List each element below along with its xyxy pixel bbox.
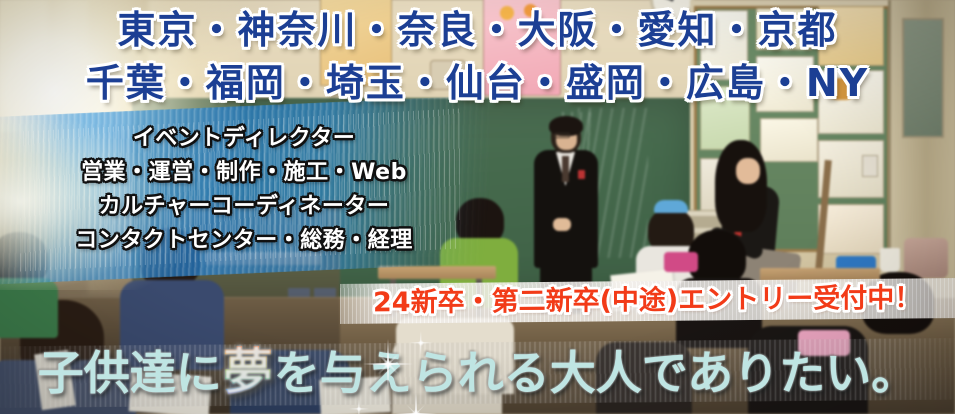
locations-headline: 東京・神奈川・奈良・大阪・愛知・京都 千葉・福岡・埼玉・仙台・盛岡・広島・NY xyxy=(0,4,955,110)
tagline-before: 子供達に xyxy=(38,343,222,403)
job-role-line-4: コンタクトセンター・総務・経理 xyxy=(34,224,454,258)
pencil-case xyxy=(664,252,698,272)
teacher-glasses xyxy=(554,133,570,138)
bulletin-poster xyxy=(760,118,818,162)
cup xyxy=(880,248,900,272)
bulletin-poster xyxy=(818,204,884,254)
student-desk xyxy=(378,266,496,279)
tagline-after: を与えられる大人でありたい。 xyxy=(274,343,918,403)
job-role-line-1: イベントディレクター xyxy=(34,122,454,156)
teacher-badge xyxy=(578,170,585,179)
teacher-hands xyxy=(553,218,571,231)
brand-tagline: 子供達に夢を与えられる大人でありたい。 xyxy=(0,334,955,410)
recruitment-hero-banner[interactable]: 東京・神奈川・奈良・大阪・愛知・京都 千葉・福岡・埼玉・仙台・盛岡・広島・NY … xyxy=(0,0,955,414)
bag xyxy=(904,238,948,278)
job-role-line-2: 営業・運営・制作・施工・Web xyxy=(34,156,454,190)
locations-line-1: 東京・神奈川・奈良・大阪・愛知・京都 xyxy=(0,4,955,57)
locations-line-2: 千葉・福岡・埼玉・仙台・盛岡・広島・NY xyxy=(0,57,955,110)
teacher-tie xyxy=(562,156,569,182)
tagline-text: 子供達に夢を与えられる大人でありたい。 xyxy=(38,342,918,403)
tagline-dream-kanji: 夢 xyxy=(223,342,273,402)
entry-call-to-action[interactable]: 24新卒・第二新卒(中途)エントリー受付中！ xyxy=(340,280,955,322)
job-roles-list: イベントディレクター 営業・運営・制作・施工・Web カルチャーコーディネーター… xyxy=(34,122,454,258)
entry-banner-text: 24新卒・第二新卒(中途)エントリー受付中！ xyxy=(373,283,921,320)
staff-woman-hair xyxy=(715,140,767,232)
job-role-line-3: カルチャーコーディネーター xyxy=(34,190,454,224)
light-switch xyxy=(862,155,878,177)
staff-woman-face xyxy=(736,158,760,184)
